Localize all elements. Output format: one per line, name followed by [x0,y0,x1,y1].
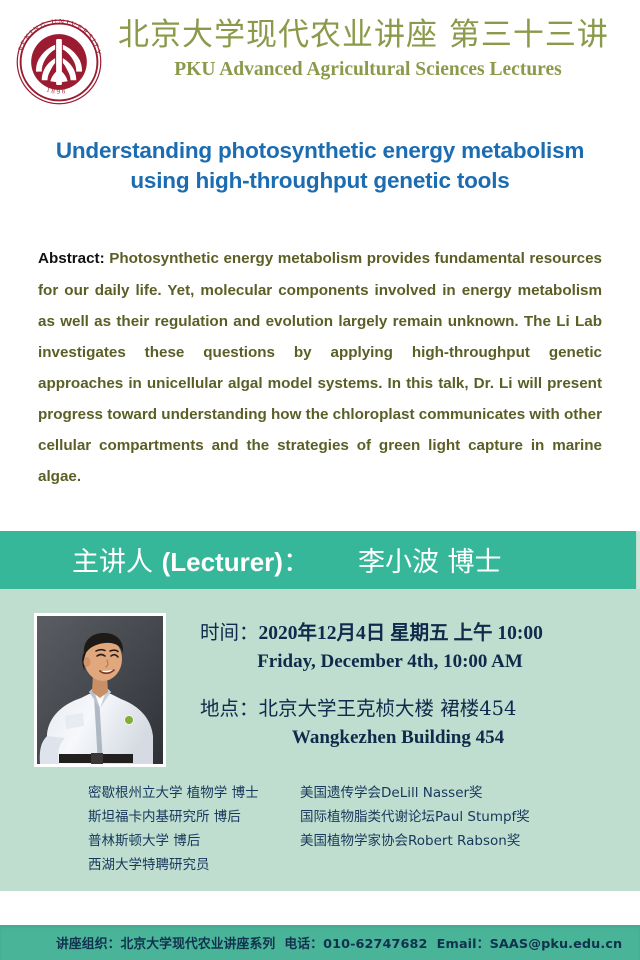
credentials-education-column: 密歇根州立大学 植物学 博士 斯坦福卡内基研究所 博后 普林斯顿大学 博后 西湖… [0,781,300,877]
lecturer-banner-wrapper: 主讲人 (Lecturer)： 李小波 博士 [0,531,640,589]
list-item: 国际植物脂类代谢论坛Paul Stumpf奖 [300,805,530,829]
time-line-en: Friday, December 4th, 10:00 AM [200,648,626,676]
footer-bar: 讲座组织：北京大学现代农业讲座系列 电话：010-62747682 Email：… [0,925,640,960]
list-item: 密歇根州立大学 植物学 博士 [88,781,300,805]
abstract-label: Abstract: [38,250,105,267]
abstract-body: Photosynthetic energy metabolism provide… [38,250,602,485]
talk-title-line1: Understanding photosynthetic energy meta… [18,136,622,166]
organizer-value: 北京大学现代农业讲座系列 [120,937,275,952]
lecturer-label-en: (Lecturer) [162,547,283,577]
location-value-cn: 北京大学王克桢大楼 裙楼454 [259,697,517,720]
lecturer-label-cn: 主讲人 [72,547,162,578]
list-item: 普林斯顿大学 博后 [88,829,300,853]
header-title-group: 北京大学现代农业讲座 第三十三讲 PKU Advanced Agricultur… [118,12,640,81]
email-label: Email： [437,937,490,952]
time-value-cn: 2020年12月4日 星期五 上午 10:00 [259,623,543,644]
list-item: 西湖大学特聘研究员 [88,853,300,877]
list-item: 斯坦福卡内基研究所 博后 [88,805,300,829]
portrait-column [0,607,200,767]
lecturer-banner: 主讲人 (Lecturer)： 李小波 博士 [0,531,636,589]
list-item: 美国植物学家协会Robert Rabson奖 [300,829,530,853]
footer-contact-text: 讲座组织：北京大学现代农业讲座系列 电话：010-62747682 Email：… [0,933,622,952]
details-row: 时间：2020年12月4日 星期五 上午 10:00 Friday, Decem… [0,589,640,767]
lecturer-portrait-image [37,616,163,764]
time-label: 时间： [200,621,259,644]
organizer-label: 讲座组织： [56,937,120,952]
event-info-column: 时间：2020年12月4日 星期五 上午 10:00 Friday, Decem… [200,607,640,752]
details-section: 时间：2020年12月4日 星期五 上午 10:00 Friday, Decem… [0,589,640,891]
list-item: 美国遗传学会DeLill Nasser奖 [300,781,530,805]
series-title-en: PKU Advanced Agricultural Sciences Lectu… [118,59,622,81]
phone-value: 010-62747682 [323,937,427,952]
phone-label: 电话： [284,937,323,952]
credentials-awards-column: 美国遗传学会DeLill Nasser奖 国际植物脂类代谢论坛Paul Stum… [300,781,530,877]
section-spacer [0,493,640,531]
info-gap [200,675,626,695]
lecturer-name: 李小波 博士 [310,540,502,579]
location-label: 地点： [200,697,259,720]
email-value: SAAS@pku.edu.cn [490,937,623,952]
poster-header: PEKING UNIVERSITY 1898 北京大学现代农业讲座 第三十三讲 … [0,0,640,114]
location-line-en: Wangkezhen Building 454 [200,724,626,752]
series-title-cn: 北京大学现代农业讲座 第三十三讲 [118,18,622,54]
lecturer-label: 主讲人 (Lecturer)： [0,540,310,579]
footer-padding [0,877,640,891]
talk-title-line2: using high-throughput genetic tools [18,166,622,196]
portrait-frame [34,613,166,767]
peking-university-seal-icon: PEKING UNIVERSITY 1898 [11,14,107,110]
abstract-block: Abstract: Photosynthetic energy metaboli… [0,195,640,492]
lecturer-label-colon: ： [283,547,310,578]
logo-container: PEKING UNIVERSITY 1898 [0,12,118,110]
talk-title: Understanding photosynthetic energy meta… [0,114,640,195]
credentials-block: 密歇根州立大学 植物学 博士 斯坦福卡内基研究所 博后 普林斯顿大学 博后 西湖… [0,767,640,877]
location-line-cn: 地点：北京大学王克桢大楼 裙楼454 [200,695,626,723]
time-line-cn: 时间：2020年12月4日 星期五 上午 10:00 [200,619,626,648]
